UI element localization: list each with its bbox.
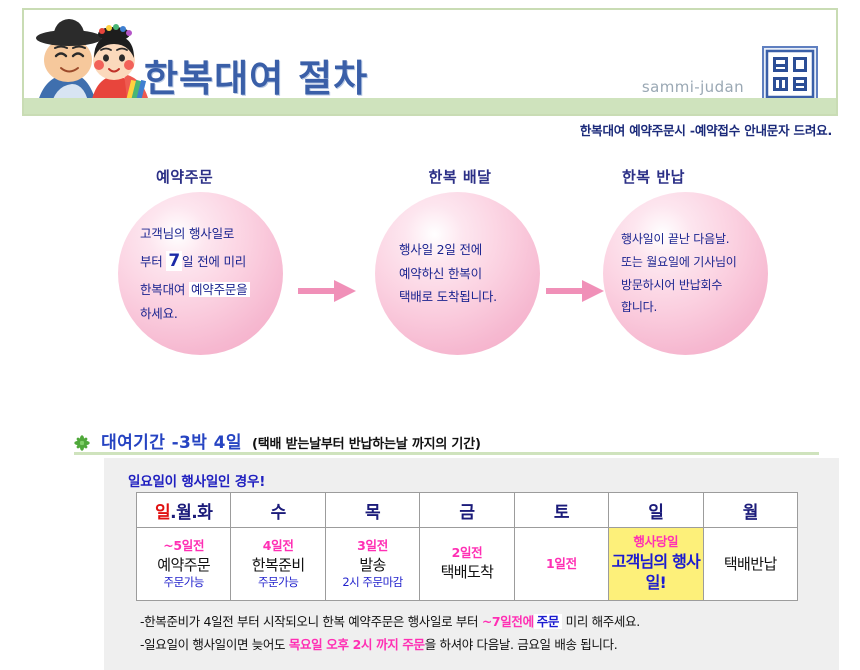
seven-days-emphasis: 7 [166,251,182,271]
cell-1-mid: 한복준비 [252,555,305,575]
table-header-cell-5: 일 [609,493,703,528]
flow-step-2-line-2: 예약하신 한복이 [399,262,482,286]
cell-3-mid: 택배도착 [441,562,494,582]
table-cell-thu: 3일전 발송 2시 주문마감 [325,528,419,601]
flow-step-1-text: 고객님의 행사일로 부터 7일 전에 미리 한복대여 예약주문을 하세요. [118,192,283,355]
header-accent-bar [24,98,836,114]
cell-3-top: 2일전 [452,545,483,562]
flow-step-1-label: 예약주문 [118,166,298,187]
table-cell-fri: 2일전 택배도착 [420,528,514,601]
cell-0-top: ~5일전 [163,538,204,555]
table-cell-sat: 1일전 [514,528,608,601]
rental-period-underline [74,452,819,455]
flow-step-1-line-4: 하세요. [140,302,178,326]
flow-step-2-label: 한복 배달 [370,166,550,187]
table-header-cell-2: 목 [325,493,419,528]
header-banner: 한복대여 절차 sammi-judan [22,8,838,116]
flow-step-return: 한복 반납 행사일이 끝난 다음날. 또는 월요일에 기사님이 방문하시어 반납… [598,160,778,355]
cell-5-mid: 고객님의 행사일! [609,551,702,594]
sms-notice-text: 한복대여 예약주문시 -예약접수 안내문자 드려요. [580,120,832,139]
rental-period-sub-label: (택배 받는날부터 반납하는날 까지의 기간) [252,437,481,452]
flow-step-3-label: 한복 반납 [598,166,778,187]
cell-1-top: 4일전 [263,538,294,555]
cell-4-top: 1일전 [546,556,577,573]
rental-period-main-label: 대여기간 -3박 4일 [101,433,242,453]
order-emphasis: 예약주문을 [189,282,250,297]
footer-note-1-order-box: 주문 [534,614,562,629]
schedule-panel: 일요일이 행사일인 경우! 일.월.화 수 목 금 토 일 월 ~5일전 예약주… [104,458,839,670]
cell-2-top: 3일전 [357,538,388,555]
flow-step-2-line-1: 행사일 2일 전에 [399,238,482,262]
cell-2-bot: 2시 주문마감 [342,575,402,591]
brand-name: sammi-judan [642,78,744,96]
flow-step-3-line-2: 또는 월요일에 기사님이 [621,251,737,274]
arrow-right-icon-2 [546,278,606,304]
footer-note-2: -일요일이 행사일이면 늦어도 목요일 오후 2시 까지 주문을 하셔야 다음날… [140,633,830,656]
table-header-row: 일.월.화 수 목 금 토 일 월 [137,493,798,528]
table-cell-sun-tue: ~5일전 예약주문 주문가능 [137,528,231,601]
table-cell-event-day: 행사당일 고객님의 행사일! [609,528,703,601]
process-flow-diagram: 예약주문 고객님의 행사일로 부터 7일 전에 미리 한복대여 예약주문을 하세… [0,160,860,375]
cell-5-top: 행사당일 [633,534,678,551]
flow-step-order: 예약주문 고객님의 행사일로 부터 7일 전에 미리 한복대여 예약주문을 하세… [118,160,298,355]
green-flower-icon [74,435,90,451]
table-cell-mon: 택배반납 [703,528,797,601]
cell-2-mid: 발송 [359,555,385,575]
flow-step-3-line-3: 방문하시어 반납회수 [621,274,722,297]
flow-step-3-circle: 행사일이 끝난 다음날. 또는 월요일에 기사님이 방문하시어 반납회수 합니다… [603,192,768,355]
flow-step-1-line-3: 한복대여 예약주문을 [140,278,250,302]
flow-step-3-text: 행사일이 끝난 다음날. 또는 월요일에 기사님이 방문하시어 반납회수 합니다… [603,192,768,355]
table-header-cell-6: 월 [703,493,797,528]
flow-step-1-line-2: 부터 7일 전에 미리 [140,245,246,277]
page-title: 한복대여 절차 [144,48,368,102]
table-header-cell-0: 일.월.화 [137,493,231,528]
footer-note-2-emphasis: 목요일 오후 2시 까지 주문 [289,637,425,652]
cell-1-bot: 주문가능 [258,575,298,591]
flow-step-1-circle: 고객님의 행사일로 부터 7일 전에 미리 한복대여 예약주문을 하세요. [118,192,283,355]
flow-step-1-line-1: 고객님의 행사일로 [140,222,234,246]
korean-seal-icon [762,46,818,102]
rental-period-heading: 대여기간 -3박 4일 (택배 받는날부터 반납하는날 까지의 기간) [74,428,814,454]
footer-note-1: -한복준비가 4일전 부터 시작되오니 한복 예약주문은 행사일로 부터 ~7일… [140,610,830,633]
cell-6-mid: 택배반납 [724,554,777,574]
table-row: ~5일전 예약주문 주문가능 4일전 한복준비 주문가능 3일전 발송 [137,528,798,601]
schedule-footer-notes: -한복준비가 4일전 부터 시작되오니 한복 예약주문은 행사일로 부터 ~7일… [140,610,830,656]
footer-note-1-emphasis: ~7일전에 [482,614,534,629]
flow-step-2-circle: 행사일 2일 전에 예약하신 한복이 택배로 도착됩니다. [375,192,540,355]
table-header-cell-1: 수 [231,493,325,528]
table-header-cell-4: 토 [514,493,608,528]
cell-0-mid: 예약주문 [157,555,210,575]
flow-step-2-text: 행사일 2일 전에 예약하신 한복이 택배로 도착됩니다. [375,192,540,355]
flow-step-2-line-3: 택배로 도착됩니다. [399,285,497,309]
flow-step-3-line-4: 합니다. [621,296,657,319]
schedule-caption: 일요일이 행사일인 경우! [128,470,265,490]
table-cell-wed: 4일전 한복준비 주문가능 [231,528,325,601]
flow-step-3-line-1: 행사일이 끝난 다음날. [621,228,729,251]
flow-step-delivery: 한복 배달 행사일 2일 전에 예약하신 한복이 택배로 도착됩니다. [370,160,550,355]
arrow-right-icon-1 [298,278,358,304]
table-header-cell-3: 금 [420,493,514,528]
cell-0-bot: 주문가능 [164,575,204,591]
schedule-table: 일.월.화 수 목 금 토 일 월 ~5일전 예약주문 주문가능 [136,492,798,601]
